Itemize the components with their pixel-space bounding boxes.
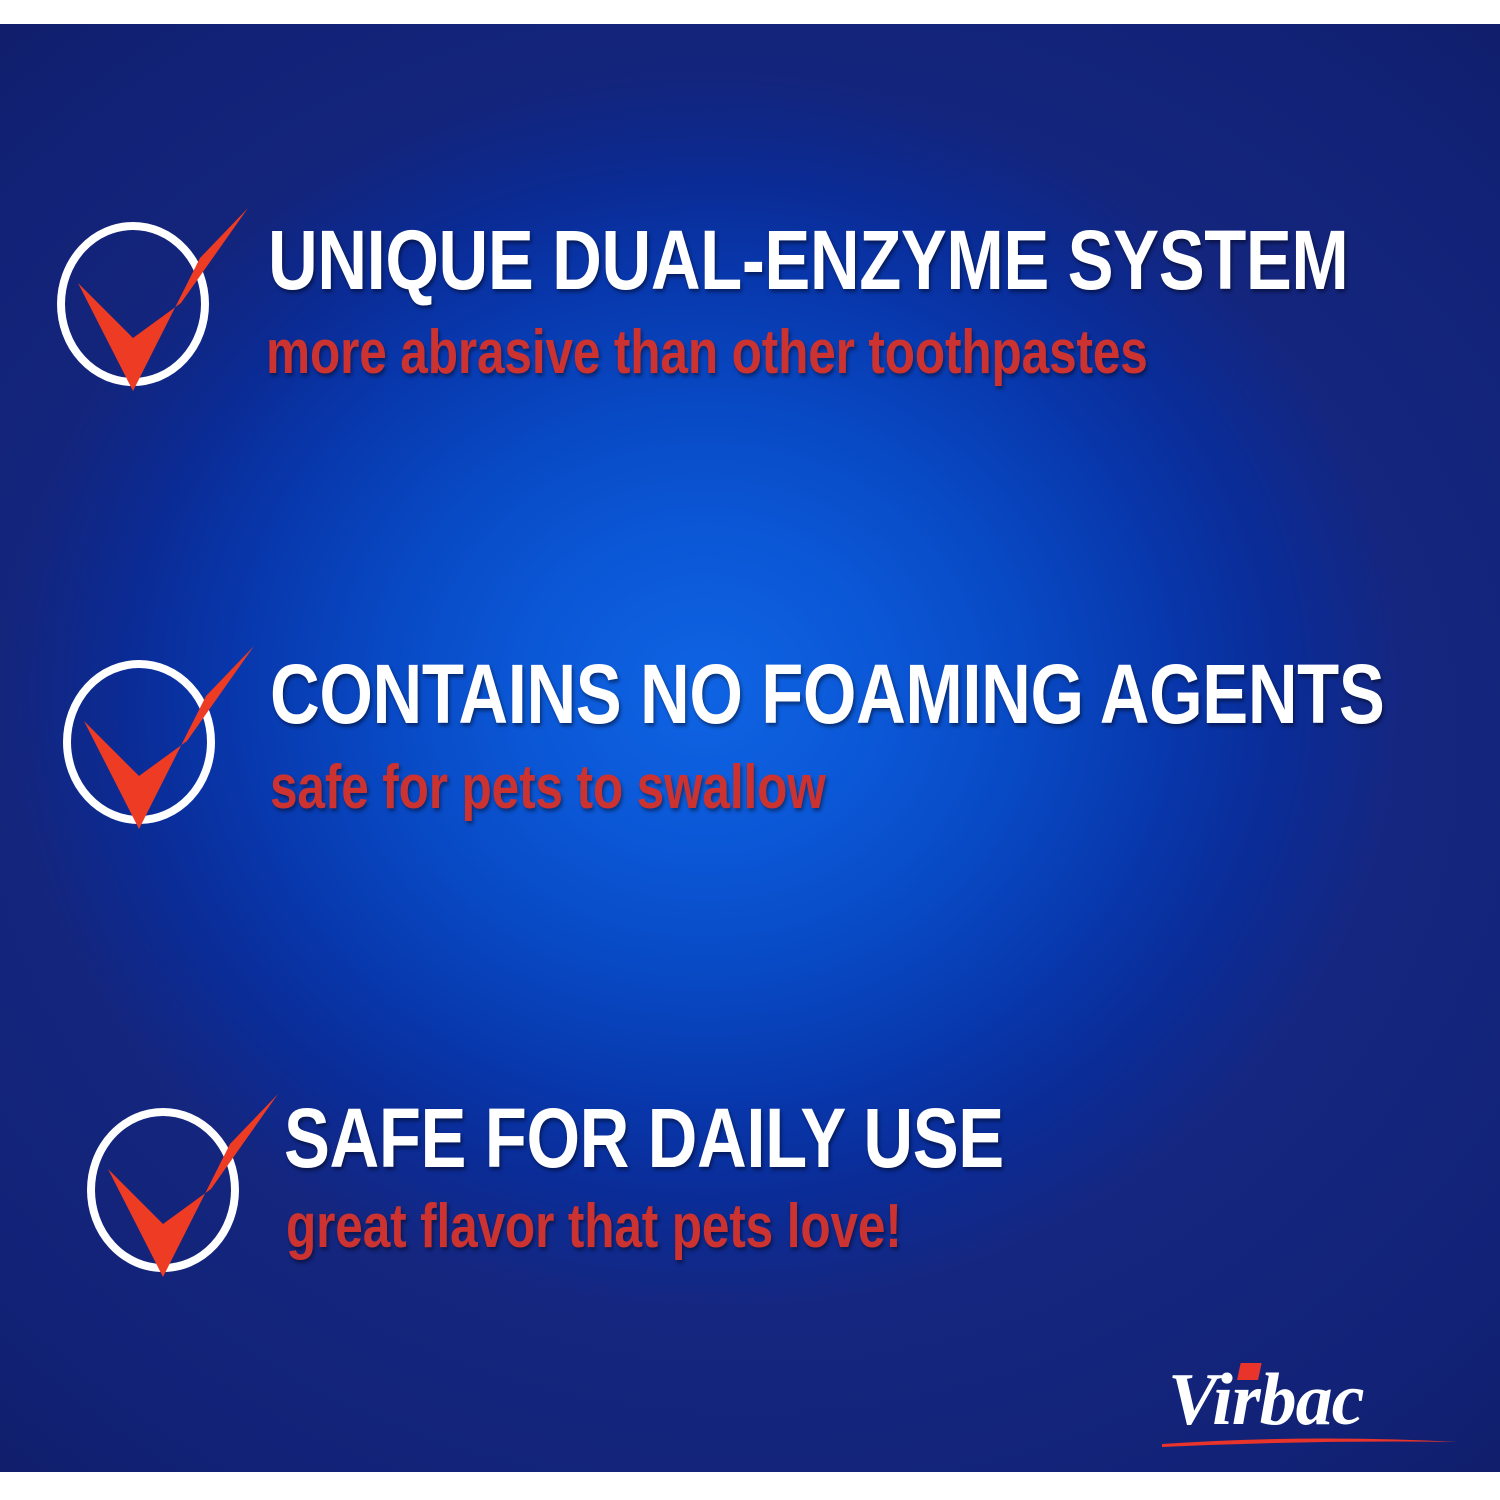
feature-subline: great flavor that pets love! [286, 1196, 902, 1258]
red-checkmark-in-circle-icon [78, 1092, 288, 1277]
red-square-dot-icon [1237, 1363, 1262, 1380]
virbac-wordmark: Virbac [1168, 1359, 1364, 1441]
feature-headline: SAFE FOR DAILY USE [284, 1096, 1004, 1180]
bottom-white-band [0, 1472, 1500, 1500]
red-checkmark-in-circle-icon [54, 644, 264, 829]
feature-headline: UNIQUE DUAL-ENZYME SYSTEM [268, 218, 1348, 302]
feature-headline: CONTAINS NO FOAMING AGENTS [270, 652, 1384, 736]
virbac-logo: Virbac [1160, 1352, 1460, 1460]
top-white-band [0, 0, 1500, 24]
red-checkmark-in-circle-icon [48, 206, 258, 391]
product-feature-infographic: UNIQUE DUAL-ENZYME SYSTEM more abrasive … [0, 0, 1500, 1500]
feature-subline: safe for pets to swallow [270, 757, 826, 819]
feature-subline: more abrasive than other toothpastes [266, 322, 1148, 384]
